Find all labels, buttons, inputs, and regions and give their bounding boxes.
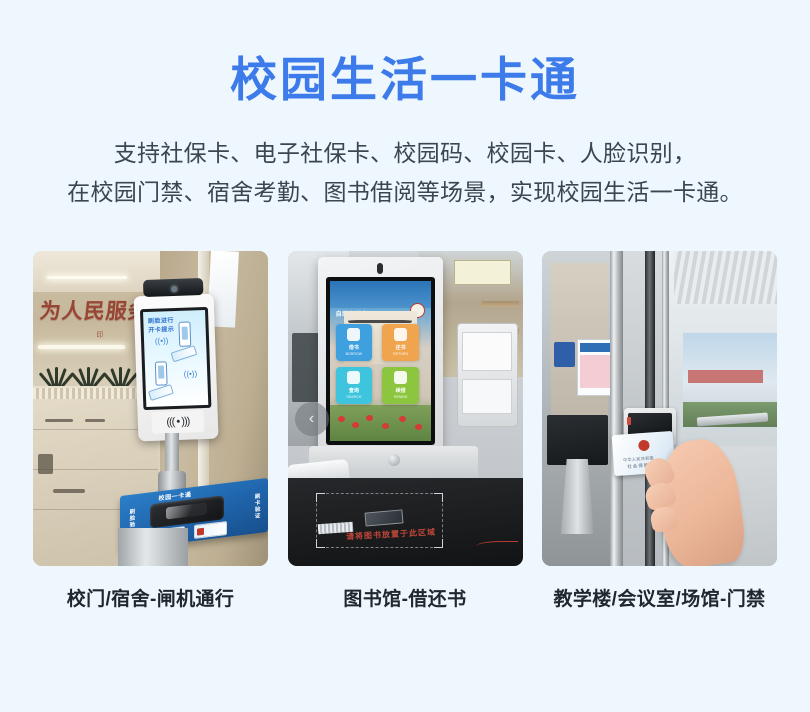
- tile-sublabel: BORROW: [346, 352, 363, 356]
- book-scan-deck[interactable]: 请将图书放置于此区域: [288, 478, 523, 566]
- terminal-screen[interactable]: 刷脸进行 开卡提示 ((•)) ((•)): [140, 307, 212, 411]
- kiosk-tile-renew[interactable]: 续借 RENEW: [382, 367, 419, 404]
- kiosk-screen-content: 自助办证中心 借书 还书 查询 续借: [330, 281, 432, 441]
- tile-sublabel: SEARCH: [346, 395, 361, 399]
- side-panel-notice: [462, 332, 512, 371]
- return-icon: [394, 328, 407, 341]
- outdoor-building-stripe: [688, 370, 763, 383]
- gallery-item-gate: 为人民服务 印: [33, 251, 268, 611]
- search-icon: [347, 371, 360, 384]
- subtitle-line-2: 在校园门禁、宿舍考勤、图书借阅等场景，实现校园生活一卡通。: [55, 173, 755, 213]
- page-subtitle: 支持社保卡、电子社保卡、校园码、校园卡、人脸识别， 在校园门禁、宿舍考勤、图书借…: [55, 134, 755, 213]
- library-kiosk[interactable]: 自助办证中心 借书 还书 查询 续借: [318, 257, 443, 452]
- photo-door-access: 中华人民共和国 社会保障卡: [542, 251, 777, 566]
- side-panel-scan-area[interactable]: [462, 379, 512, 414]
- tile-label: 还书: [396, 344, 406, 351]
- nfc-reader-icon[interactable]: ((( • ))): [152, 410, 204, 433]
- phone-illustration: [155, 361, 168, 386]
- library-signboard: [454, 260, 510, 285]
- gallery-item-library: 自助办证中心 借书 还书 查询 续借: [288, 251, 523, 611]
- gallery-caption-access: 教学楼/会议室/场馆-门禁: [553, 584, 765, 611]
- door-frame-left: [610, 251, 623, 566]
- face-recognition-terminal[interactable]: 刷脸进行 开卡提示 ((•)) ((•)) ((( • ))): [134, 294, 219, 442]
- outer-ceiling: [674, 251, 777, 305]
- card-sample-social: [194, 521, 227, 539]
- status-led-icon: [627, 417, 631, 425]
- national-emblem-icon: [637, 440, 649, 452]
- flower-bed: [330, 405, 432, 440]
- page-root: 校园生活一卡通 支持社保卡、电子社保卡、校园码、校园卡、人脸识别， 在校园门禁、…: [0, 0, 810, 712]
- interior-counter: [547, 415, 608, 465]
- kiosk-tile-search[interactable]: 查询 SEARCH: [336, 367, 373, 404]
- card-illustration: [149, 384, 175, 400]
- national-emblem-icon: [197, 527, 204, 535]
- kiosk-tile-return[interactable]: 还书 RETURN: [382, 324, 419, 361]
- chevron-left-icon[interactable]: ‹: [295, 402, 329, 436]
- wifi-wave-icon: ((•)): [155, 336, 169, 345]
- gallery-item-access: 中华人民共和国 社会保障卡 教学楼/会议室/场馆-门禁: [542, 251, 777, 611]
- tile-label: 续借: [396, 387, 406, 394]
- phone-illustration: [179, 322, 192, 347]
- tile-sublabel: RENEW: [394, 395, 407, 399]
- kiosk-camera-icon: [377, 263, 383, 274]
- wifi-wave-icon: ((•)): [184, 369, 198, 378]
- kiosk-screen[interactable]: 自助办证中心 借书 还书 查询 续借: [326, 277, 436, 445]
- page-title: 校园生活一卡通: [230, 54, 580, 106]
- terminal-screen-text: 刷脸进行 开卡提示: [148, 317, 175, 336]
- photo-gate-turnstile: 为人民服务 印: [33, 251, 268, 566]
- kiosk-tile-borrow[interactable]: 借书 BORROW: [336, 324, 373, 361]
- book-icon: [347, 328, 360, 341]
- camera-module-icon: [143, 278, 204, 297]
- roof-shape: [348, 320, 412, 323]
- tile-label: 查询: [349, 387, 359, 394]
- ceiling-light-icon: [47, 276, 127, 279]
- tile-label: 借书: [349, 344, 359, 351]
- gallery-caption-gate: 校门/宿舍-闸机通行: [67, 584, 235, 611]
- turnstile-pillar: [118, 528, 189, 566]
- card-illustration: [171, 345, 198, 363]
- tile-sublabel: RETURN: [393, 352, 408, 356]
- renew-icon: [394, 371, 407, 384]
- gallery-caption-library: 图书馆-借还书: [343, 584, 466, 611]
- kiosk-side-panel: [457, 323, 518, 427]
- wall-sign-icon: [554, 342, 575, 367]
- cable: [476, 541, 518, 550]
- photo-library-kiosk: 自助办证中心 借书 还书 查询 续借: [288, 251, 523, 566]
- calligraphy-seal-icon: 印: [96, 330, 103, 340]
- scene-gallery: 为人民服务 印: [33, 251, 777, 611]
- kiosk-knob-icon: [388, 454, 400, 466]
- turnstile-label-right: 刷卡验证: [253, 493, 261, 520]
- subtitle-line-1: 支持社保卡、电子社保卡、校园码、校园卡、人脸识别，: [55, 134, 755, 174]
